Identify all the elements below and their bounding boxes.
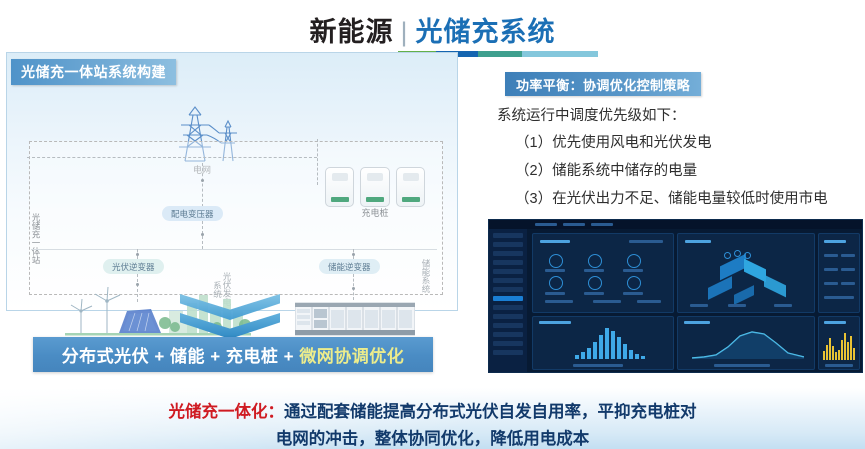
node-dot bbox=[201, 233, 204, 236]
bullet-text: 在光伏出力不足、储能电量较低时使用市电 bbox=[552, 191, 828, 207]
dashboard-card-parameters bbox=[532, 233, 674, 313]
dashboard-card-topology bbox=[677, 233, 815, 313]
page-title-main: 新能源 bbox=[309, 17, 393, 47]
node-dot bbox=[352, 287, 355, 290]
summary-formula-bar: 分布式光伏 + 储能 + 充电桩 + 微网协调优化 bbox=[33, 337, 433, 372]
dashboard-chart-line bbox=[677, 316, 815, 370]
node-dot bbox=[136, 253, 139, 256]
bullet-text: 储能系统中储存的电量 bbox=[552, 163, 697, 179]
summary-text-accent: 微网协调优化 bbox=[299, 347, 404, 366]
bullet-number: （1） bbox=[515, 131, 552, 152]
bullet-number: （3） bbox=[515, 187, 552, 208]
bus-line-grid bbox=[27, 157, 317, 159]
footer-text-1: 通过配套储能提高分布式光伏自发自用率，平抑充电桩对 bbox=[284, 403, 697, 421]
main-ac-bus bbox=[31, 249, 437, 250]
dashboard-chart-bar-blue bbox=[532, 316, 674, 370]
battery-rack-illustration bbox=[295, 301, 415, 337]
dashboard-card-stats bbox=[818, 233, 860, 313]
charging-pile-group bbox=[325, 167, 425, 205]
dashboard-chart-bar-yellow bbox=[818, 316, 860, 370]
charging-pile-icon bbox=[325, 167, 354, 207]
label-station-vertical: 光储充一体站 bbox=[27, 213, 40, 264]
charging-pile-icon bbox=[396, 167, 425, 207]
node-dot bbox=[201, 179, 204, 182]
label-distribution-transformer: 配电变压器 bbox=[162, 206, 223, 221]
footer-text-2: 电网的冲击，整体协同优化，降低用电成本 bbox=[276, 430, 590, 448]
dashboard-tab bbox=[591, 223, 613, 226]
charging-pile-icon bbox=[360, 167, 389, 207]
strategy-lead-text: 系统运行中调度优先级如下： bbox=[497, 104, 686, 125]
node-dot bbox=[352, 253, 355, 256]
chevron-down-icon bbox=[180, 294, 280, 320]
label-ess-inverter: 储能逆变器 bbox=[319, 259, 380, 274]
page-header: 新能源|光储充系统 bbox=[0, 6, 865, 52]
panel-title-badge: 光储充一体站系统构建 bbox=[11, 59, 176, 85]
rule-segment-teal bbox=[478, 51, 522, 57]
label-pv-inverter: 光伏逆变器 bbox=[103, 259, 164, 274]
footer-line-1: 光储充一体化：通过配套储能提高分布式光伏自发自用率，平抑充电桩对 bbox=[0, 398, 865, 422]
monitoring-dashboard-screenshot bbox=[488, 219, 863, 373]
page-title-separator: | bbox=[400, 17, 408, 47]
strategy-bullet-1: （1）优先使用风电和光伏发电 bbox=[515, 131, 712, 152]
bullet-text: 优先使用风电和光伏发电 bbox=[552, 135, 712, 151]
strategy-bullet-2: （2）储能系统中储存的电量 bbox=[515, 159, 697, 180]
footer-line-2: 电网的冲击，整体协同优化，降低用电成本 bbox=[0, 425, 865, 449]
summary-text-primary: 分布式光伏 + 储能 + 充电桩 + bbox=[62, 347, 300, 366]
system-architecture-panel: 光储充一体站系统构建 电网 光储充一体站 bbox=[6, 52, 458, 311]
strategy-bullet-3: （3）在光伏出力不足、储能电量较低时使用市电 bbox=[515, 187, 828, 208]
page-title: 新能源|光储充系统 bbox=[0, 10, 865, 49]
line-grid-to-transformer bbox=[202, 163, 204, 207]
downward-arrow-group bbox=[180, 294, 280, 340]
rule-segment-lightblue bbox=[522, 51, 598, 57]
dashboard-topbar bbox=[489, 220, 862, 229]
label-charging-piles: 充电桩 bbox=[325, 206, 425, 219]
page-title-sub: 光储充系统 bbox=[416, 17, 556, 47]
label-ess-system-vertical: 储能系统 bbox=[418, 259, 430, 293]
footer-highlight: 光储充一体化： bbox=[169, 403, 285, 421]
bullet-number: （2） bbox=[515, 159, 552, 180]
dashboard-tab bbox=[535, 223, 557, 226]
strategy-title-badge: 功率平衡：协调优化控制策略 bbox=[505, 72, 701, 96]
dashboard-sidebar bbox=[489, 229, 527, 372]
dashboard-tab bbox=[563, 223, 585, 226]
line-grid-to-piles bbox=[317, 139, 319, 185]
